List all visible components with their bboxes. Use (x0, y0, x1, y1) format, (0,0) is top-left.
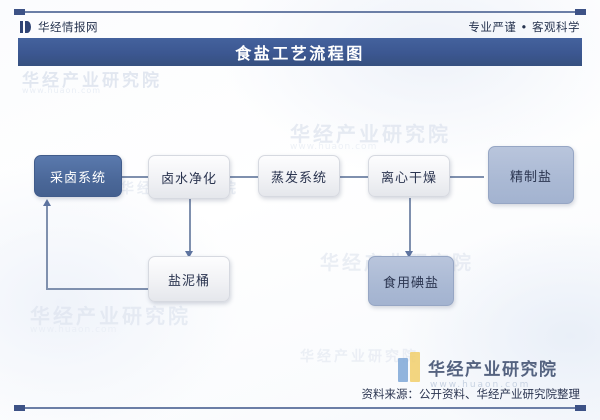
node-salt-mud-bucket[interactable]: 盐泥桶 (148, 256, 230, 302)
node-label: 离心干燥 (381, 167, 437, 186)
infographic-page: 华经情报网 专业严谨 • 客观科学 食盐工艺流程图 华经产业研究院 www.hu… (0, 0, 600, 420)
node-label: 食用碘盐 (383, 272, 439, 291)
node-brine-purification[interactable]: 卤水净化 (148, 155, 230, 199)
edge-n2-n3 (230, 176, 258, 178)
node-evaporation-system[interactable]: 蒸发系统 (258, 155, 340, 197)
node-centrifugal-drying[interactable]: 离心干燥 (368, 155, 450, 197)
node-iodized-table-salt[interactable]: 食用碘盐 (368, 256, 454, 306)
source-note: 资料来源：公开资料、华经产业研究院整理 (362, 386, 581, 402)
footer-logo-text: 华经产业研究院 (428, 355, 558, 380)
edge-n2-n6 (189, 198, 191, 254)
node-label: 卤水净化 (161, 168, 217, 187)
edge-n3-n4 (340, 176, 368, 178)
edge-n4-n7 (409, 198, 411, 254)
bottom-divider-rule (18, 407, 582, 409)
node-refined-salt[interactable]: 精制盐 (488, 146, 574, 204)
edge-n4-n5 (450, 176, 484, 178)
node-label: 蒸发系统 (271, 167, 327, 186)
node-label: 采卤系统 (50, 167, 106, 186)
node-label: 盐泥桶 (168, 270, 210, 289)
arrowhead-n6-n1 (43, 199, 51, 206)
edge-n6-n1-vertical (46, 205, 48, 289)
node-label: 精制盐 (510, 166, 552, 185)
edge-n1-n2 (122, 176, 148, 178)
book-logo-icon (398, 352, 420, 382)
edge-n6-n1-horizontal (46, 288, 162, 290)
footer-logo: 华经产业研究院 (398, 352, 558, 382)
node-caiLu-system[interactable]: 采卤系统 (34, 155, 122, 197)
